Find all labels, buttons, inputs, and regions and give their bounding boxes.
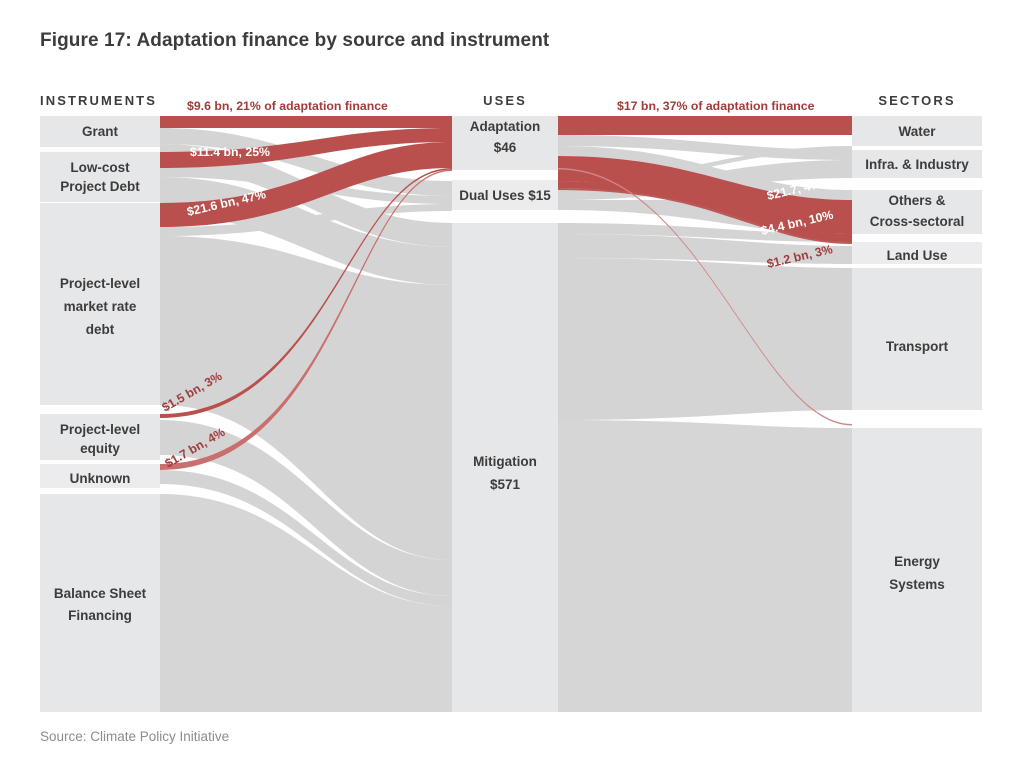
node-label-others-and-cross-sectoral-line2: Cross-sectoral bbox=[870, 214, 965, 229]
node-label-water: Water bbox=[898, 124, 936, 139]
node-label-energy-systems-line2: Systems bbox=[889, 577, 945, 592]
node-balance-sheet-financing[interactable] bbox=[40, 494, 160, 712]
page-title: Figure 17: Adaptation finance by source … bbox=[40, 30, 549, 52]
node-label-transport: Transport bbox=[886, 339, 949, 354]
flow-label-grant-adaptation: $9.6 bn, 21% of adaptation finance bbox=[187, 99, 388, 113]
node-label-mitigation-line1: Mitigation bbox=[473, 454, 537, 469]
column-header-uses: USES bbox=[483, 93, 527, 108]
node-label-low-cost-project-debt-line1: Low-cost bbox=[70, 160, 130, 175]
node-label-adaptation-line1: Adaptation bbox=[470, 119, 541, 134]
column-header-instruments: INSTRUMENTS bbox=[40, 93, 157, 108]
flow-label-adaptation-water: $17 bn, 37% of adaptation finance bbox=[617, 99, 815, 113]
node-label-land-use: Land Use bbox=[887, 248, 948, 263]
node-label-adaptation-line2: $46 bbox=[494, 140, 517, 155]
node-label-balance-sheet-financing-line2: Financing bbox=[68, 608, 132, 623]
sankey-diagram: INSTRUMENTS USES SECTORS Grant Low-cost … bbox=[0, 0, 1024, 775]
node-label-mitigation-line2: $571 bbox=[490, 477, 521, 492]
node-label-market-rate-debt-line1: Project-level bbox=[60, 276, 140, 291]
node-label-dual-uses: Dual Uses $15 bbox=[459, 188, 551, 203]
uses-nodes bbox=[452, 116, 558, 712]
source-note: Source: Climate Policy Initiative bbox=[40, 729, 229, 744]
node-label-grant: Grant bbox=[82, 124, 119, 139]
flow-label-lowcost-adaptation: $11.4 bn, 25% bbox=[190, 145, 270, 159]
node-label-infra-and-industry: Infra. & Industry bbox=[865, 157, 969, 172]
node-energy-systems[interactable] bbox=[852, 428, 982, 712]
node-label-project-level-equity-line1: Project-level bbox=[60, 422, 140, 437]
node-label-project-level-equity-line2: equity bbox=[80, 441, 120, 456]
node-label-market-rate-debt-line2: market rate bbox=[64, 299, 137, 314]
flow-adaptation-water bbox=[558, 116, 852, 135]
node-label-low-cost-project-debt-line2: Project Debt bbox=[60, 179, 140, 194]
flow-grant-adaptation bbox=[160, 116, 452, 128]
node-label-energy-systems-line1: Energy bbox=[894, 554, 940, 569]
node-label-balance-sheet-financing-line1: Balance Sheet bbox=[54, 586, 147, 601]
node-label-others-and-cross-sectoral-line1: Others & bbox=[888, 193, 945, 208]
node-label-market-rate-debt-line3: debt bbox=[86, 322, 115, 337]
column-header-sectors: SECTORS bbox=[878, 93, 955, 108]
node-label-unknown: Unknown bbox=[70, 471, 131, 486]
